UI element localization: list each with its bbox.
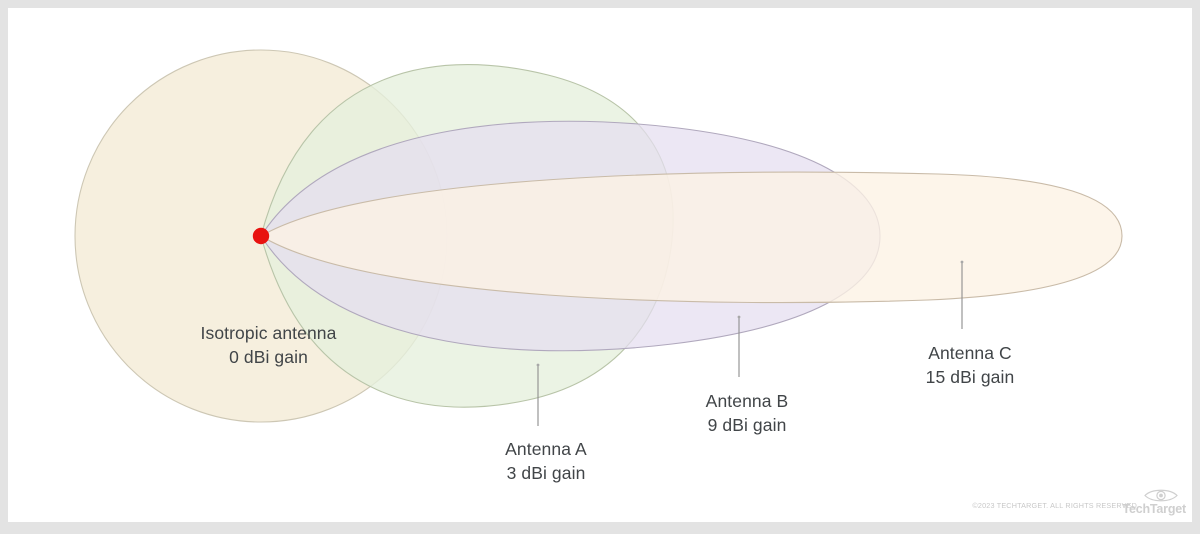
leader-dot-antenna-c (961, 261, 964, 264)
label-isotropic-name: Isotropic antenna (81, 321, 456, 345)
figure-root: Isotropic antenna 0 dBi gain Antenna A 3… (0, 0, 1200, 534)
label-antenna-c: Antenna C 15 dBi gain (820, 341, 1120, 389)
label-antenna-c-gain: 15 dBi gain (820, 365, 1120, 389)
label-antenna-c-name: Antenna C (820, 341, 1120, 365)
radiation-source-point (253, 228, 269, 244)
label-isotropic-antenna: Isotropic antenna 0 dBi gain (81, 321, 456, 369)
label-antenna-b-name: Antenna B (597, 389, 897, 413)
eye-pupil (1159, 494, 1163, 498)
label-antenna-b-gain: 9 dBi gain (597, 413, 897, 437)
label-antenna-a-gain: 3 dBi gain (396, 461, 696, 485)
copyright-notice: ©2023 TECHTARGET. ALL RIGHTS RESERVED (972, 501, 1137, 510)
label-isotropic-gain: 0 dBi gain (81, 345, 456, 369)
label-antenna-a-name: Antenna A (396, 437, 696, 461)
label-antenna-a: Antenna A 3 dBi gain (396, 437, 696, 485)
diagram-canvas: Isotropic antenna 0 dBi gain Antenna A 3… (8, 8, 1192, 522)
label-antenna-b: Antenna B 9 dBi gain (597, 389, 897, 437)
leader-dot-antenna-a (537, 364, 540, 367)
leader-dot-antenna-b (738, 316, 741, 319)
techtarget-wordmark: TechTarget (1122, 502, 1186, 516)
